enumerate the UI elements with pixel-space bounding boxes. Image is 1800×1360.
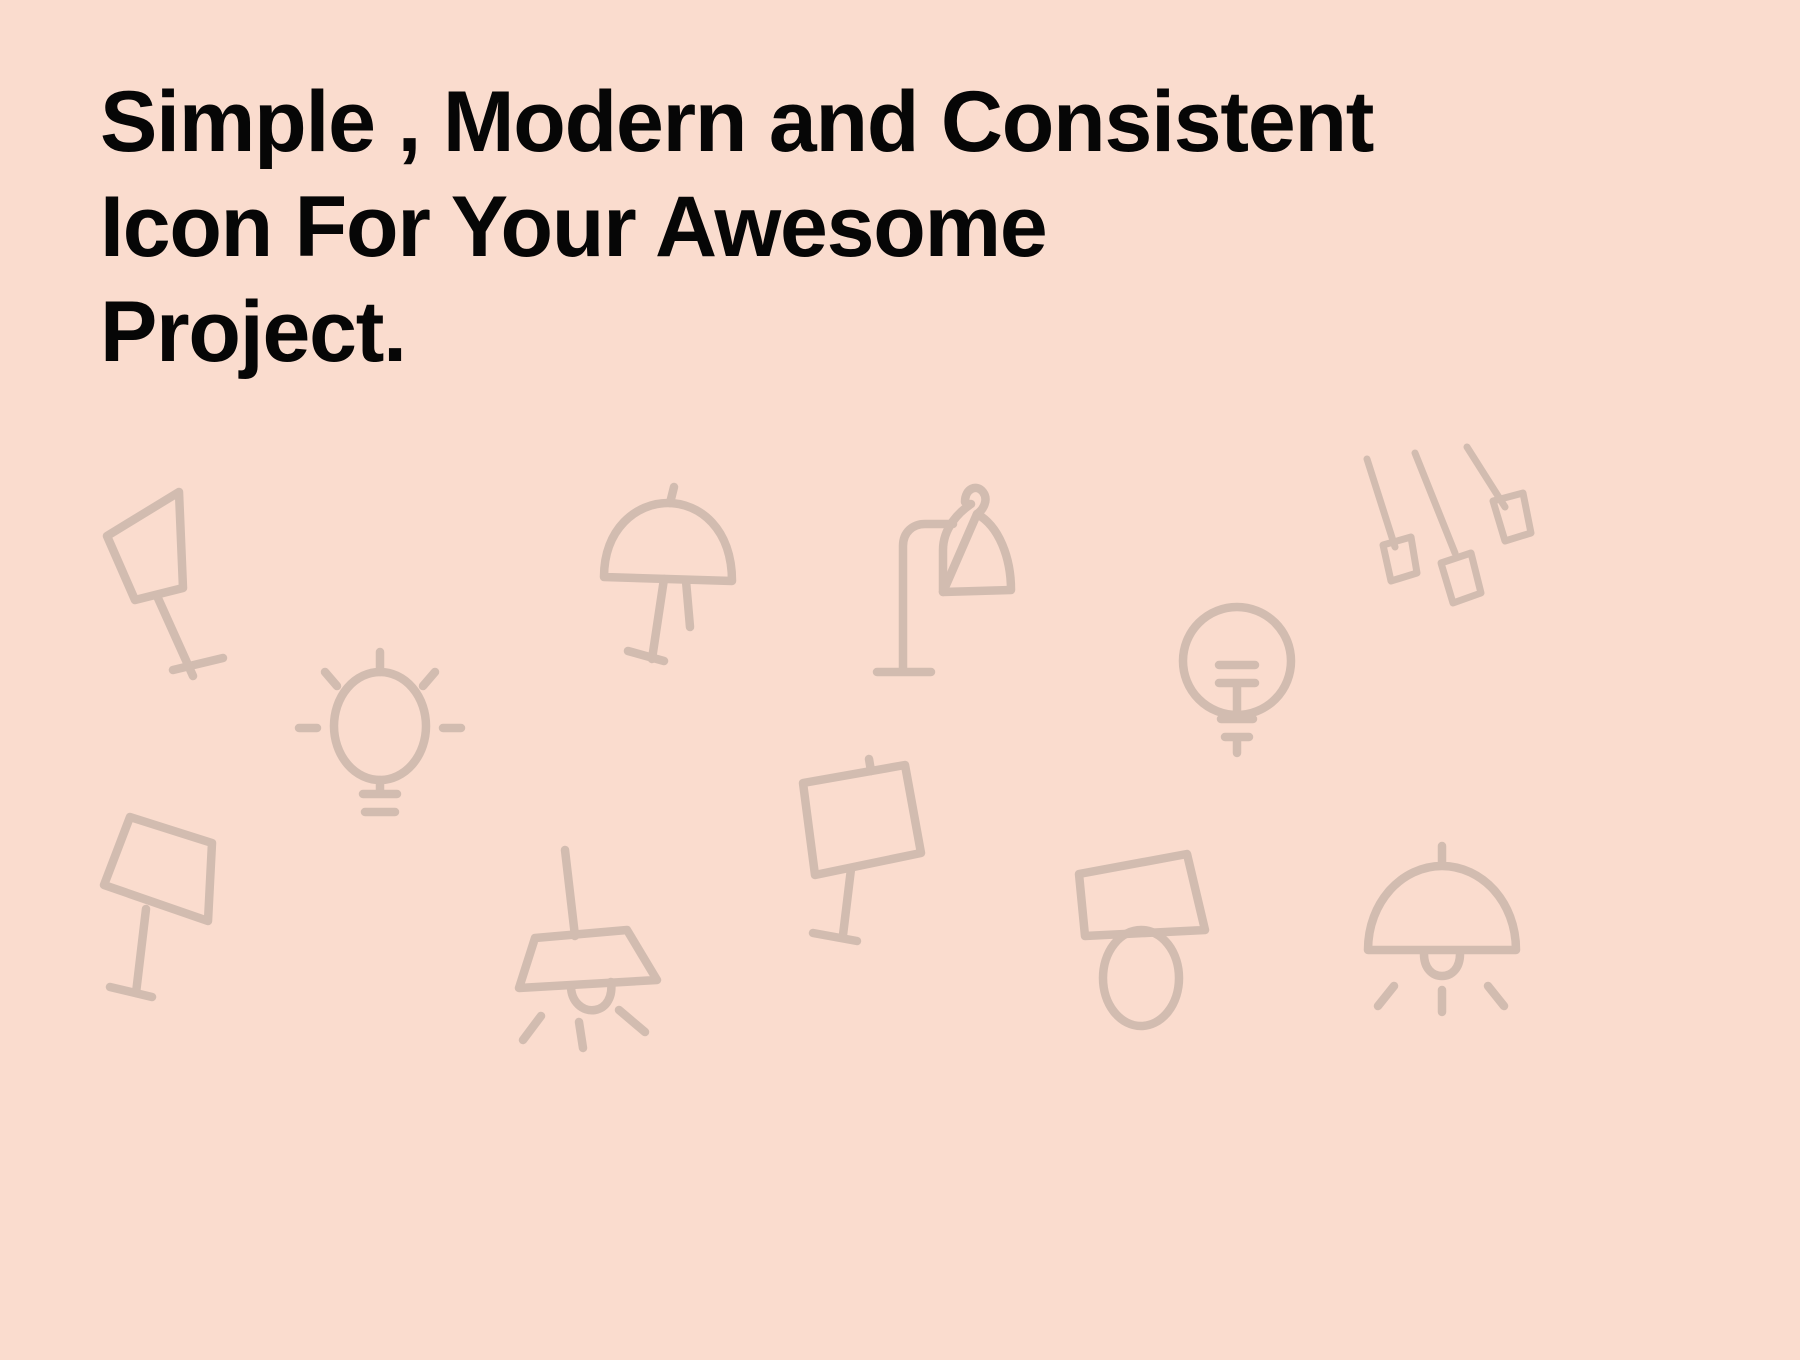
desk-lamp-curved-arm-icon bbox=[865, 480, 1035, 690]
light-bulb-rays-icon bbox=[285, 640, 475, 830]
hanging-pendants-trio-icon bbox=[1355, 445, 1545, 645]
tilted-floor-lamp-icon bbox=[95, 470, 255, 690]
angled-desk-lamp-icon bbox=[90, 805, 250, 1015]
ceiling-lamp-rays-icon bbox=[505, 840, 685, 1040]
page-title: Simple , Modern and Consistent Icon For … bbox=[100, 70, 1500, 385]
wall-lamp-oval-icon bbox=[1065, 840, 1235, 1030]
bulb-circle-icon bbox=[1175, 595, 1315, 775]
pendant-dome-rays-icon bbox=[1350, 840, 1540, 1030]
tilted-table-lamp-icon bbox=[785, 755, 955, 965]
poster-canvas: Simple , Modern and Consistent Icon For … bbox=[0, 0, 1800, 1360]
dome-table-lamp-icon bbox=[590, 485, 750, 675]
